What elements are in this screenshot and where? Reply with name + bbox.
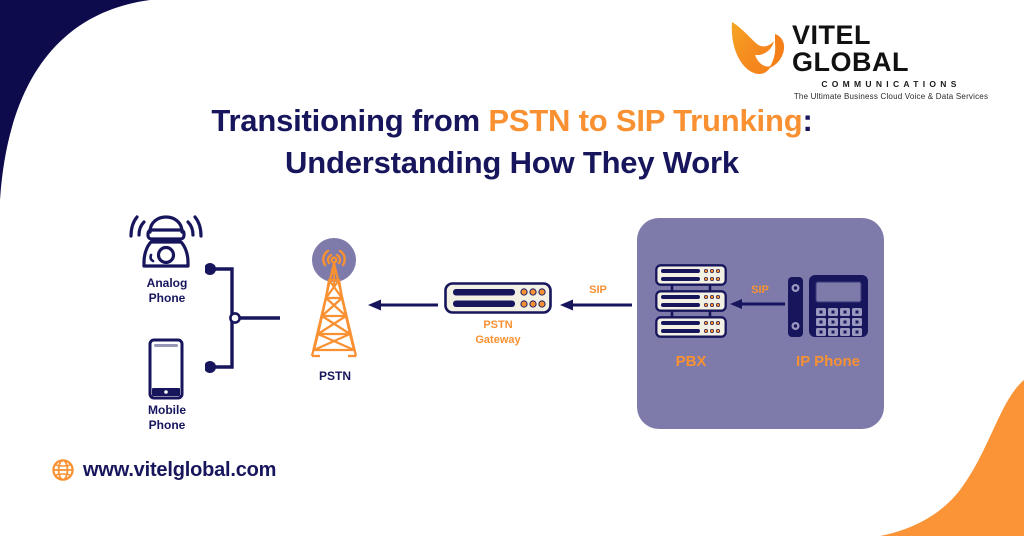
bracket-connector [205,262,285,374]
title-line-1: Transitioning from PSTN to SIP Trunking: [0,100,1024,142]
analog-phone-label-line1: Analog [147,276,188,290]
analog-phone-label: Analog Phone [128,276,206,306]
pbx-unit-3 [656,317,725,336]
title-line-2: Understanding How They Work [0,142,1024,184]
ip-phone-label: IP Phone [780,354,876,369]
vitel-global-logo-mark [728,16,786,76]
pstn-tower-icon [296,238,372,366]
analog-phone-label-line2: Phone [149,291,186,305]
logo-subtitle: COMMUNICATIONS [792,80,990,89]
logo-text-block: VITEL GLOBAL COMMUNICATIONS The Ultimate… [792,16,990,101]
arrow-ipphone-to-pbx [730,296,786,312]
gateway-label-line1: PSTN [483,319,512,331]
pbx-unit-2 [656,291,725,310]
title-suffix: : [802,103,812,138]
logo-name: VITEL GLOBAL [792,22,990,76]
bracket-node-top [205,263,216,275]
bottom-right-orange-shape-fill [880,380,1024,536]
title-prefix: Transitioning from [211,103,488,138]
title-highlight: PSTN to SIP Trunking [488,103,802,138]
brand-logo: VITEL GLOBAL COMMUNICATIONS The Ultimate… [728,16,990,82]
mobile-phone-label-line1: Mobile [148,403,186,417]
mobile-phone-label-line2: Phone [149,418,186,432]
analog-phone-icon [128,210,204,272]
pbx-label: PBX [650,354,732,369]
pstn-gateway-icon [444,282,552,314]
pbx-unit-1 [656,265,725,284]
bottom-right-orange-shape [905,390,1024,536]
arrow-pbx-to-gateway [560,296,634,314]
ip-phone-icon [787,274,869,340]
ip-phone-screen [816,282,861,302]
page-title: Transitioning from PSTN to SIP Trunking:… [0,100,1024,184]
website-url-row[interactable]: www.vitelglobal.com [52,455,276,485]
arrow-gateway-to-pstn [368,296,440,314]
gateway-label-line2: Gateway [475,334,520,346]
globe-icon [52,459,74,481]
mobile-phone-icon [148,338,184,400]
pbx-server-stack-icon [655,264,727,338]
bracket-node-center [230,313,239,322]
website-url-text[interactable]: www.vitelglobal.com [83,459,276,482]
infographic-canvas: VITEL GLOBAL COMMUNICATIONS The Ultimate… [0,0,1024,536]
mobile-phone-label: Mobile Phone [128,403,206,433]
pstn-label: PSTN [298,369,372,384]
pstn-gateway-label: PSTN Gateway [440,318,556,348]
bracket-node-bottom [205,361,216,373]
